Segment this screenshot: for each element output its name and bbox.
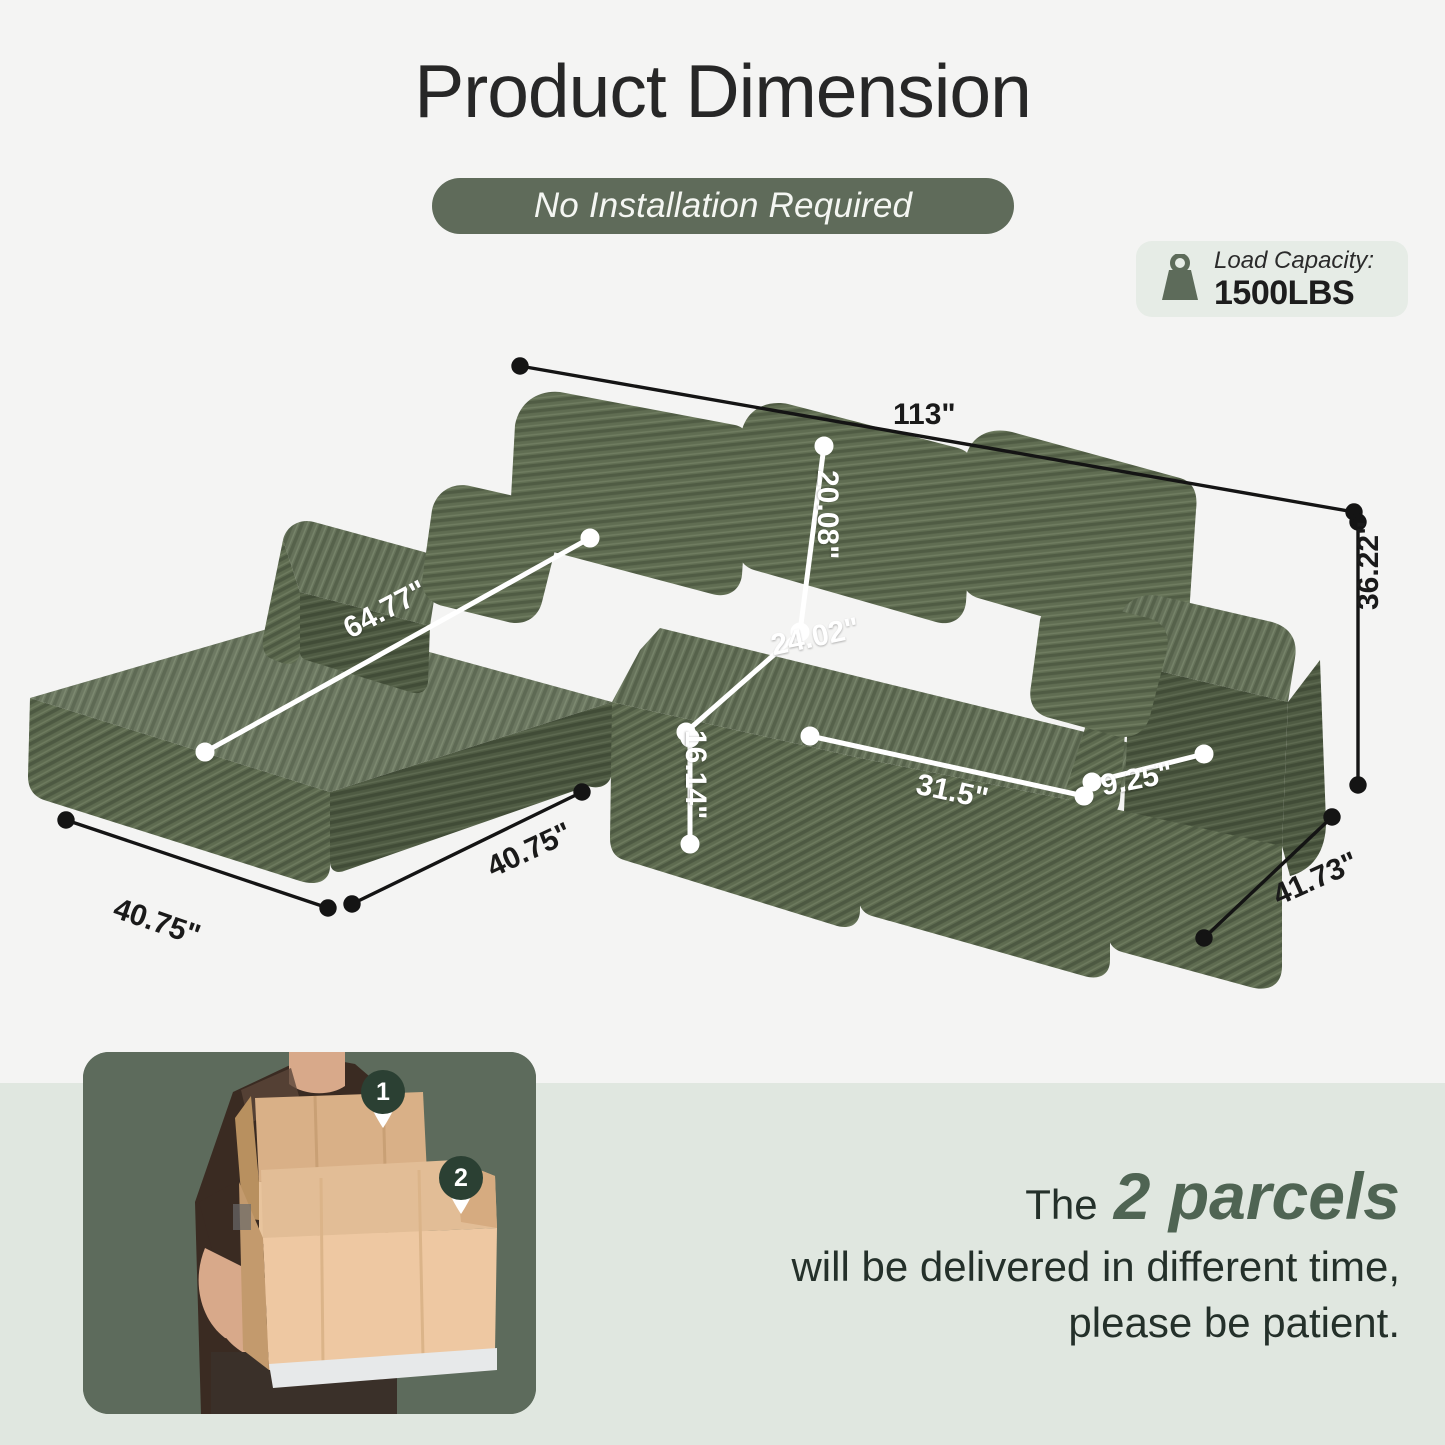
load-capacity-badge: Load Capacity: 1500LBS: [1136, 241, 1408, 317]
delivery-message-line2: will be delivered in different time,: [600, 1239, 1400, 1296]
product-dimension-infographic: Product Dimension No Installation Requir…: [0, 0, 1445, 1445]
delivery-message-highlight: 2 parcels: [1114, 1159, 1400, 1233]
dim-label-overall-height: 36.22": [1352, 521, 1386, 610]
no-installation-badge-label: No Installation Required: [534, 186, 912, 226]
throw-pillow-right: [1030, 599, 1167, 737]
parcel-pin-2: 2: [439, 1156, 483, 1214]
dim-label-seat-height: 16.14": [678, 730, 712, 819]
delivery-photo: 1 2: [83, 1052, 536, 1414]
delivery-message-line3: please be patient.: [600, 1295, 1400, 1352]
no-installation-badge: No Installation Required: [432, 178, 1014, 234]
weight-icon: [1156, 254, 1204, 304]
sofa-illustration-stage: 113" 36.22" 41.73" 40.75" 40.75" 64.77" …: [0, 330, 1445, 1030]
delivery-message-prefix: The: [1025, 1181, 1097, 1228]
page-title: Product Dimension: [0, 52, 1445, 131]
courier-with-boxes-illustration: [83, 1052, 536, 1414]
sofa-diagram: [0, 330, 1445, 1030]
parcel-pin-1-number: 1: [361, 1070, 405, 1114]
dim-label-overall-width: 113": [893, 398, 956, 432]
dim-label-backrest-height: 20.08": [810, 470, 844, 559]
load-capacity-label: Load Capacity:: [1214, 249, 1374, 273]
load-capacity-value: 1500LBS: [1214, 276, 1374, 310]
parcel-pin-2-number: 2: [439, 1156, 483, 1200]
parcel-pin-1: 1: [361, 1070, 405, 1128]
back-cushion-middle: [737, 403, 975, 623]
delivery-message: The 2 parcels will be delivered in diffe…: [600, 1160, 1400, 1352]
throw-pillow-left: [422, 485, 559, 623]
